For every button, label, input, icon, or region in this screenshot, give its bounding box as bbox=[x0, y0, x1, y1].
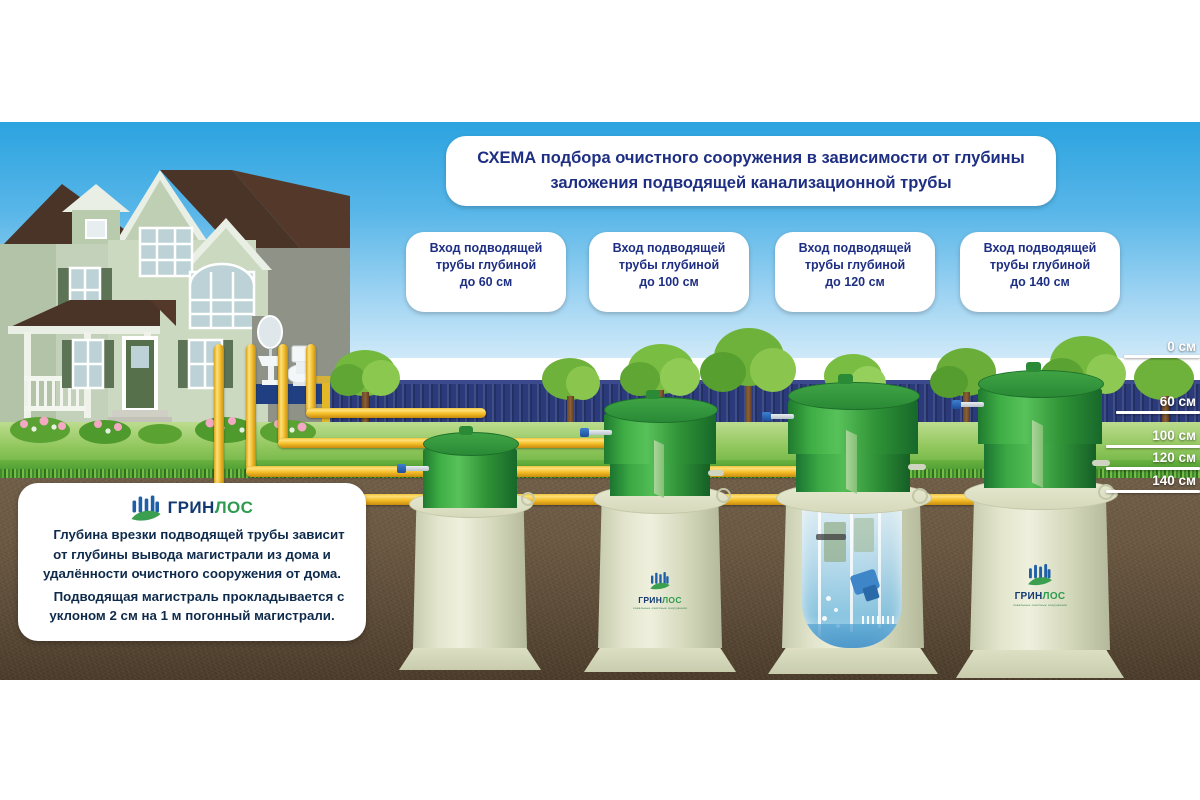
depth-rule-60 bbox=[1116, 411, 1200, 414]
callout-100-line-3: до 100 см bbox=[595, 274, 743, 291]
tank-4-lid-top bbox=[978, 370, 1104, 398]
pipe-vertical-2 bbox=[278, 344, 288, 444]
tank-2-base bbox=[584, 644, 736, 672]
brand-primary: ГРИН bbox=[168, 498, 215, 517]
depth-label-0: 0 см bbox=[1116, 339, 1196, 354]
tank-3-vent bbox=[838, 374, 853, 384]
tank-2-vent bbox=[646, 390, 660, 399]
callout-140-line-3: до 140 см bbox=[966, 274, 1114, 291]
tank-1-lower-body bbox=[413, 502, 527, 648]
info-box-brand: ГРИНЛОС bbox=[168, 498, 254, 518]
callout-60-line-1: Вход подводящей bbox=[412, 240, 560, 257]
depth-label-120: 120 см bbox=[1102, 450, 1196, 465]
tank-3-inlet-pipe bbox=[768, 414, 794, 419]
infographic-root: ГРИНЛОС локальные очистные сооружения bbox=[0, 0, 1200, 800]
pipe-vertical-3 bbox=[246, 344, 256, 472]
tank-2-inlet-cap bbox=[580, 428, 589, 437]
tank-3 bbox=[762, 288, 944, 680]
tank-3-base bbox=[768, 644, 938, 674]
tank-2-logo-tagline: локальные очистные сооружения bbox=[618, 606, 702, 610]
tank-2-inlet-pipe bbox=[586, 430, 612, 435]
depth-label-100: 100 см bbox=[1102, 428, 1196, 443]
tank-2-outlet bbox=[708, 470, 724, 476]
tank-1-vent bbox=[459, 426, 473, 435]
callout-60-line-2: трубы глубиной bbox=[412, 257, 560, 274]
title-banner: СХЕМА подбора очистного сооружения в зав… bbox=[446, 136, 1056, 206]
pipe-vertical-1 bbox=[306, 344, 316, 414]
greenlos-mark-icon bbox=[649, 572, 671, 590]
tank-4-fin bbox=[1032, 420, 1043, 488]
tank-1-lid-top bbox=[423, 432, 519, 456]
tank-1-inlet-cap bbox=[397, 464, 406, 473]
callout-100: Вход подводящей трубы глубиной до 100 см bbox=[589, 232, 749, 312]
info-box-paragraph-2: Подводящая магистраль прокладывается с у… bbox=[32, 587, 352, 626]
info-box: ГРИНЛОС Глубина врезки подводящей трубы … bbox=[18, 483, 366, 641]
greenlos-mark-icon bbox=[1027, 564, 1053, 586]
info-box-logo: ГРИНЛОС bbox=[32, 493, 352, 523]
tank-2-fin bbox=[654, 440, 664, 498]
depth-label-140: 140 см bbox=[1102, 473, 1196, 488]
callout-140-line-1: Вход подводящей bbox=[966, 240, 1114, 257]
house bbox=[0, 140, 350, 432]
tank-4-logo-name: ГРИНЛОС bbox=[994, 591, 1086, 602]
callout-100-line-1: Вход подводящей bbox=[595, 240, 743, 257]
callout-140-line-2: трубы глубиной bbox=[966, 257, 1114, 274]
callout-120-line-3: до 120 см bbox=[781, 274, 929, 291]
tank-3-lug bbox=[912, 488, 928, 504]
callout-60: Вход подводящей трубы глубиной до 60 см bbox=[406, 232, 566, 312]
tank-1-inlet-pipe bbox=[403, 466, 429, 471]
tank-1 bbox=[395, 314, 545, 680]
depth-rule-140 bbox=[1106, 490, 1200, 493]
tank-3-lid-top bbox=[788, 382, 920, 410]
tree-icon bbox=[1130, 356, 1200, 430]
tank-3-fin bbox=[846, 430, 857, 494]
pipe-vertical-4 bbox=[214, 344, 224, 502]
depth-rule-120 bbox=[1106, 467, 1200, 470]
callout-120: Вход подводящей трубы глубиной до 120 см bbox=[775, 232, 935, 312]
depth-label-60: 60 см bbox=[1112, 394, 1196, 409]
tank-4-inlet-cap bbox=[952, 400, 961, 409]
callout-100-line-2: трубы глубиной bbox=[595, 257, 743, 274]
tank-4-logo-tagline: локальные очистные сооружения bbox=[994, 603, 1086, 607]
brand-secondary: ЛОС bbox=[215, 498, 254, 517]
tank-2-logo-name: ГРИНЛОС bbox=[618, 595, 702, 605]
callout-60-line-3: до 60 см bbox=[412, 274, 560, 291]
tank-1-lug bbox=[521, 492, 535, 506]
depth-rule-0 bbox=[1124, 355, 1200, 358]
tank-4-base bbox=[956, 646, 1124, 678]
greenlos-mark-icon bbox=[131, 495, 161, 522]
depth-rule-100 bbox=[1106, 445, 1200, 448]
info-box-paragraph-1: Глубина врезки подводящей трубы зависит … bbox=[32, 525, 352, 584]
tank-2-lug bbox=[716, 488, 731, 503]
callout-120-line-1: Вход подводящей bbox=[781, 240, 929, 257]
title-text: СХЕМА подбора очистного сооружения в зав… bbox=[459, 146, 1042, 196]
tank-3-cutaway-window bbox=[802, 500, 902, 648]
title-line-1: СХЕМА подбора очистного сооружения в зав… bbox=[477, 149, 1024, 167]
tank-2-lid-top bbox=[604, 397, 718, 423]
title-line-2: заложения подводящей канализационной тру… bbox=[550, 174, 951, 192]
tank-3-outlet bbox=[908, 464, 926, 470]
callout-140: Вход подводящей трубы глубиной до 140 см bbox=[960, 232, 1120, 312]
tank-2: ГРИНЛОС локальные очистные сооружения bbox=[580, 300, 740, 680]
tank-4-inlet-pipe bbox=[958, 402, 984, 407]
callout-120-line-2: трубы глубиной bbox=[781, 257, 929, 274]
tank-4-vent bbox=[1026, 362, 1041, 372]
tank-3-inlet-cap bbox=[762, 412, 771, 421]
tank-4-logo: ГРИНЛОС локальные очистные сооружения bbox=[994, 564, 1086, 607]
tank-2-logo: ГРИНЛОС локальные очистные сооружения bbox=[618, 572, 702, 610]
